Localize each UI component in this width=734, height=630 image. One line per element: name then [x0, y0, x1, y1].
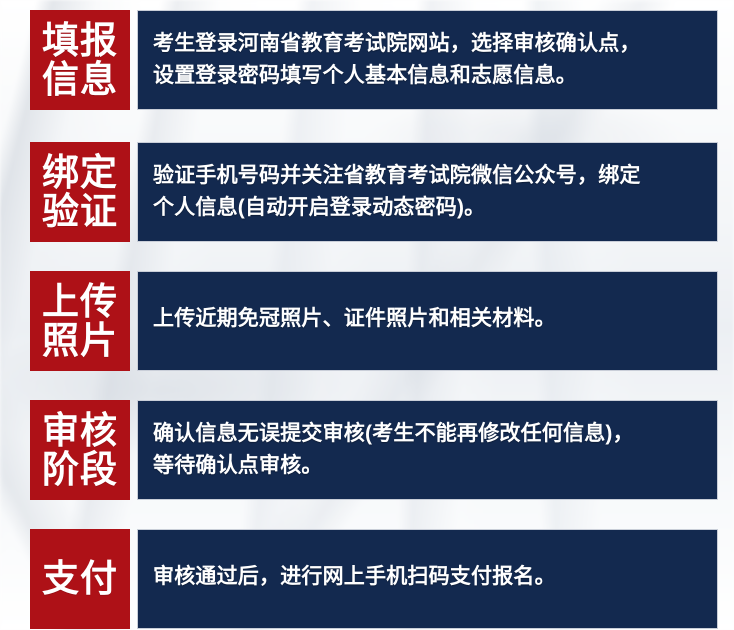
- step-description: 上传近期免冠照片、证件照片和相关材料。: [153, 303, 703, 335]
- step-panel-2: 验证手机号码并关注省教育考试院微信公众号，绑定 个人信息(自动开启登录动态密码)…: [137, 142, 718, 242]
- step-tag-5[interactable]: 支付: [30, 529, 130, 629]
- step-tag-line: 支付: [42, 559, 118, 598]
- step-panel-1: 考生登录河南省教育考试院网站，选择审核确认点， 设置登录密码填写个人基本信息和志…: [137, 10, 718, 110]
- step-description: 验证手机号码并关注省教育考试院微信公众号，绑定 个人信息(自动开启登录动态密码)…: [153, 160, 703, 224]
- step-panel-3: 上传近期免冠照片、证件照片和相关材料。: [137, 271, 718, 371]
- step-description: 审核通过后，进行网上手机扫码支付报名。: [153, 561, 703, 593]
- step-tag-line: 上传: [42, 282, 118, 321]
- step-description: 确认信息无误提交审核(考生不能再修改任何信息)， 等待确认点审核。: [153, 418, 703, 482]
- step-tag-line: 信息: [42, 60, 118, 99]
- step-tag-line: 阶段: [42, 450, 118, 489]
- step-list: 填报 信息 考生登录河南省教育考试院网站，选择审核确认点， 设置登录密码填写个人…: [0, 0, 734, 630]
- step-description: 考生登录河南省教育考试院网站，选择审核确认点， 设置登录密码填写个人基本信息和志…: [153, 28, 703, 92]
- step-tag-2[interactable]: 绑定 验证: [30, 142, 130, 242]
- step-tag-line: 照片: [42, 321, 118, 360]
- step-tag-1[interactable]: 填报 信息: [30, 10, 130, 110]
- process-flow-poster: 填报 信息 考生登录河南省教育考试院网站，选择审核确认点， 设置登录密码填写个人…: [0, 0, 734, 630]
- step-panel-4: 确认信息无误提交审核(考生不能再修改任何信息)， 等待确认点审核。: [137, 400, 718, 500]
- step-panel-5: 审核通过后，进行网上手机扫码支付报名。: [137, 529, 718, 629]
- step-tag-3[interactable]: 上传 照片: [30, 271, 130, 371]
- step-tag-4[interactable]: 审核 阶段: [30, 400, 130, 500]
- step-tag-line: 绑定: [42, 153, 118, 192]
- step-tag-line: 填报: [42, 21, 118, 60]
- step-tag-line: 验证: [42, 192, 118, 231]
- step-tag-line: 审核: [42, 411, 118, 450]
